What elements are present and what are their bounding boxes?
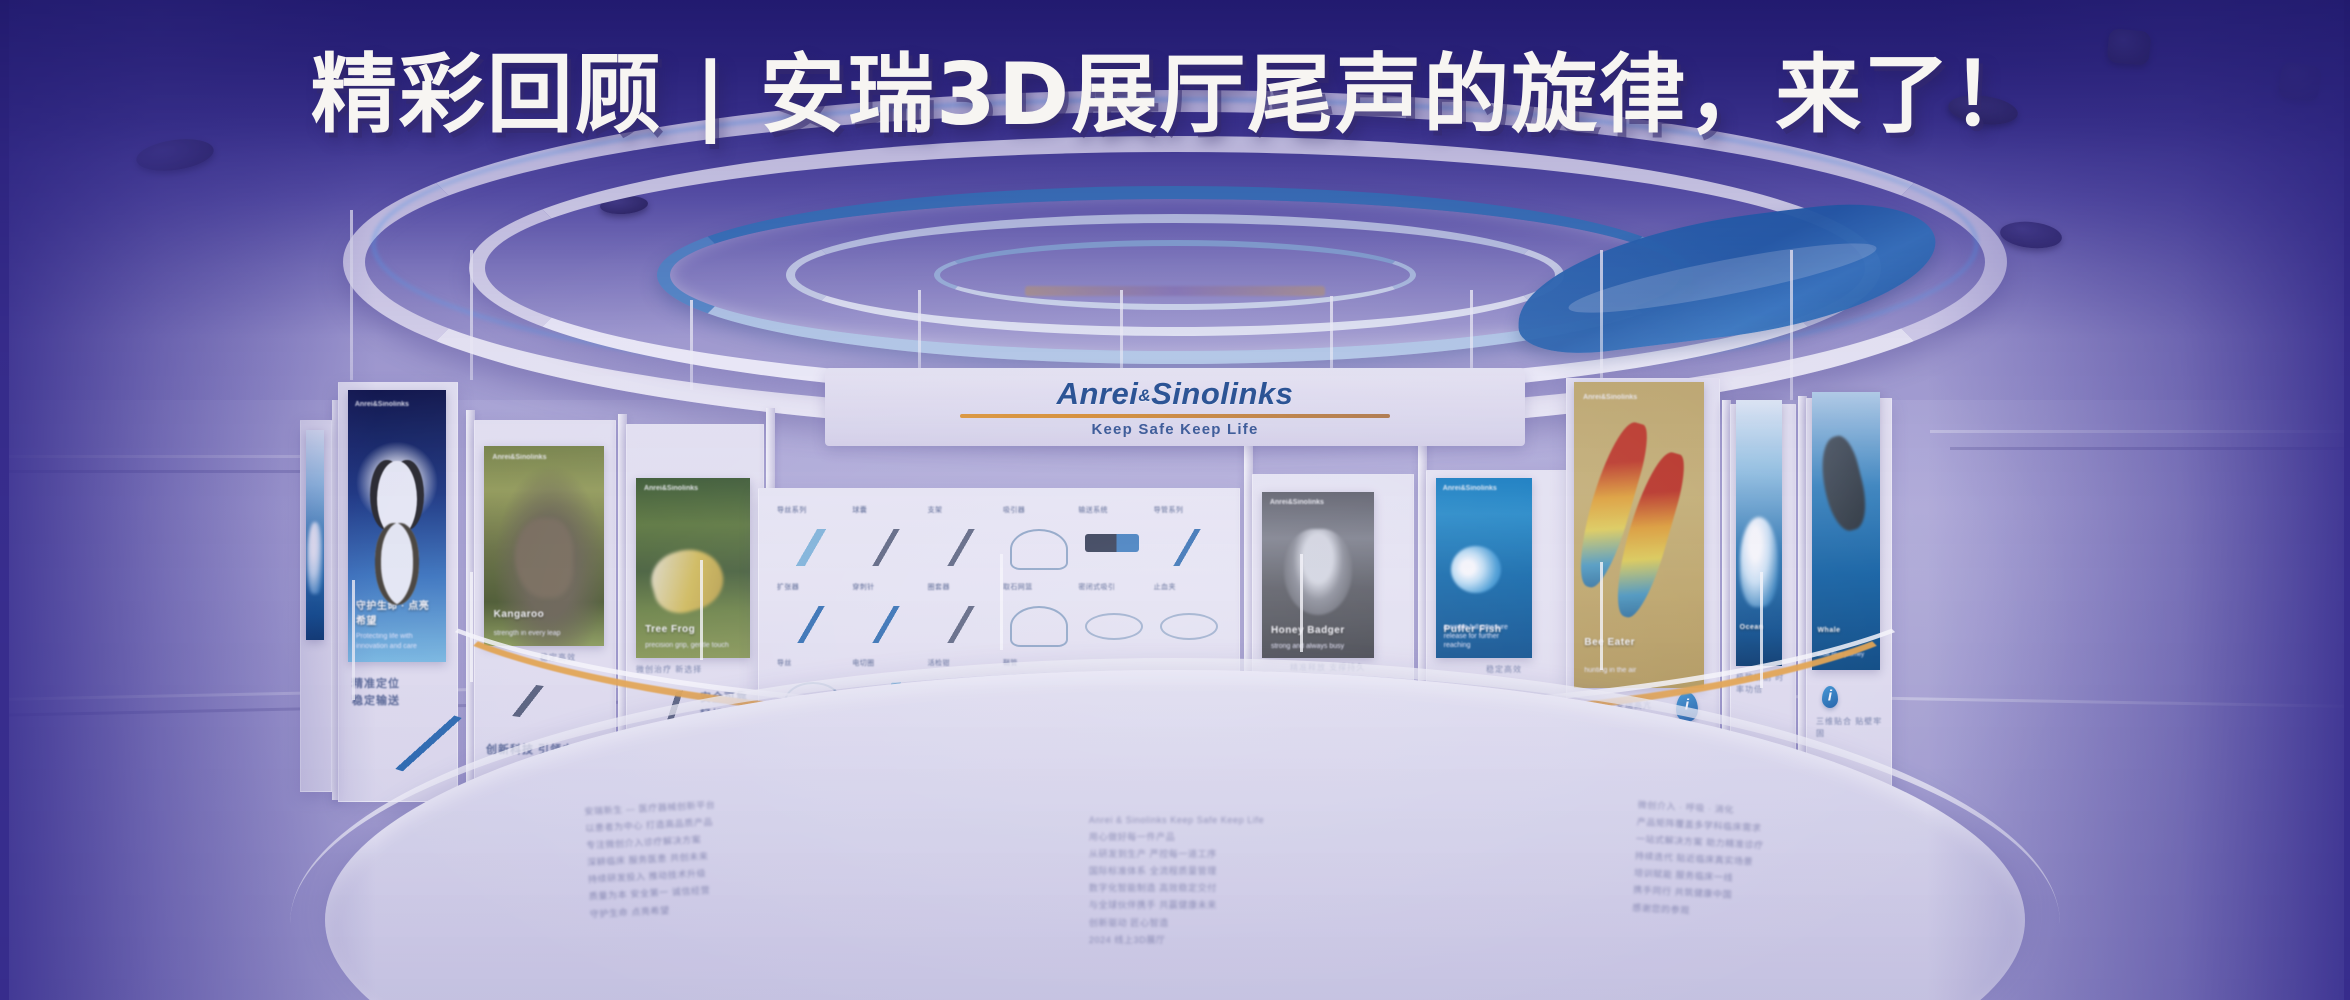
rail-post	[1000, 554, 1003, 650]
exhibition-hall-scene: Anrei&Sinolinks 守护生命 · 点亮希望 Protecting l…	[0, 0, 2350, 1000]
left-edge-border	[0, 0, 9, 1000]
rail-post	[1300, 554, 1303, 652]
rail-post	[470, 572, 473, 682]
left-vignette	[0, 0, 376, 1000]
platform-engraved-text: 安瑞新生 — 医疗器械创新平台 以患者为中心 打造高品质产品 专注微创介入诊疗解…	[550, 800, 1800, 1000]
banner-stage: Anrei&Sinolinks 守护生命 · 点亮希望 Protecting l…	[0, 0, 2350, 1000]
rail-post	[1760, 572, 1763, 688]
platform-text-col-2: Anrei & Sinolinks Keep Safe Keep Life 用心…	[1089, 800, 1264, 1000]
rail-post	[700, 560, 703, 660]
right-vignette	[1927, 0, 2350, 1000]
rail-post	[1600, 562, 1603, 670]
page-title: 精彩回顾 | 安瑞3D展厅尾声的旋律，来了！	[0, 24, 2350, 149]
platform-text-col-3: 微创介入 · 呼吸 · 消化 产品矩阵覆盖多学科临床需求 一站式解决方案 助力精…	[1626, 797, 1766, 1000]
right-edge-border	[2344, 0, 2350, 1000]
platform-text-col-1: 安瑞新生 — 医疗器械创新平台 以患者为中心 打造高品质产品 专注微创介入诊疗解…	[584, 797, 727, 1000]
